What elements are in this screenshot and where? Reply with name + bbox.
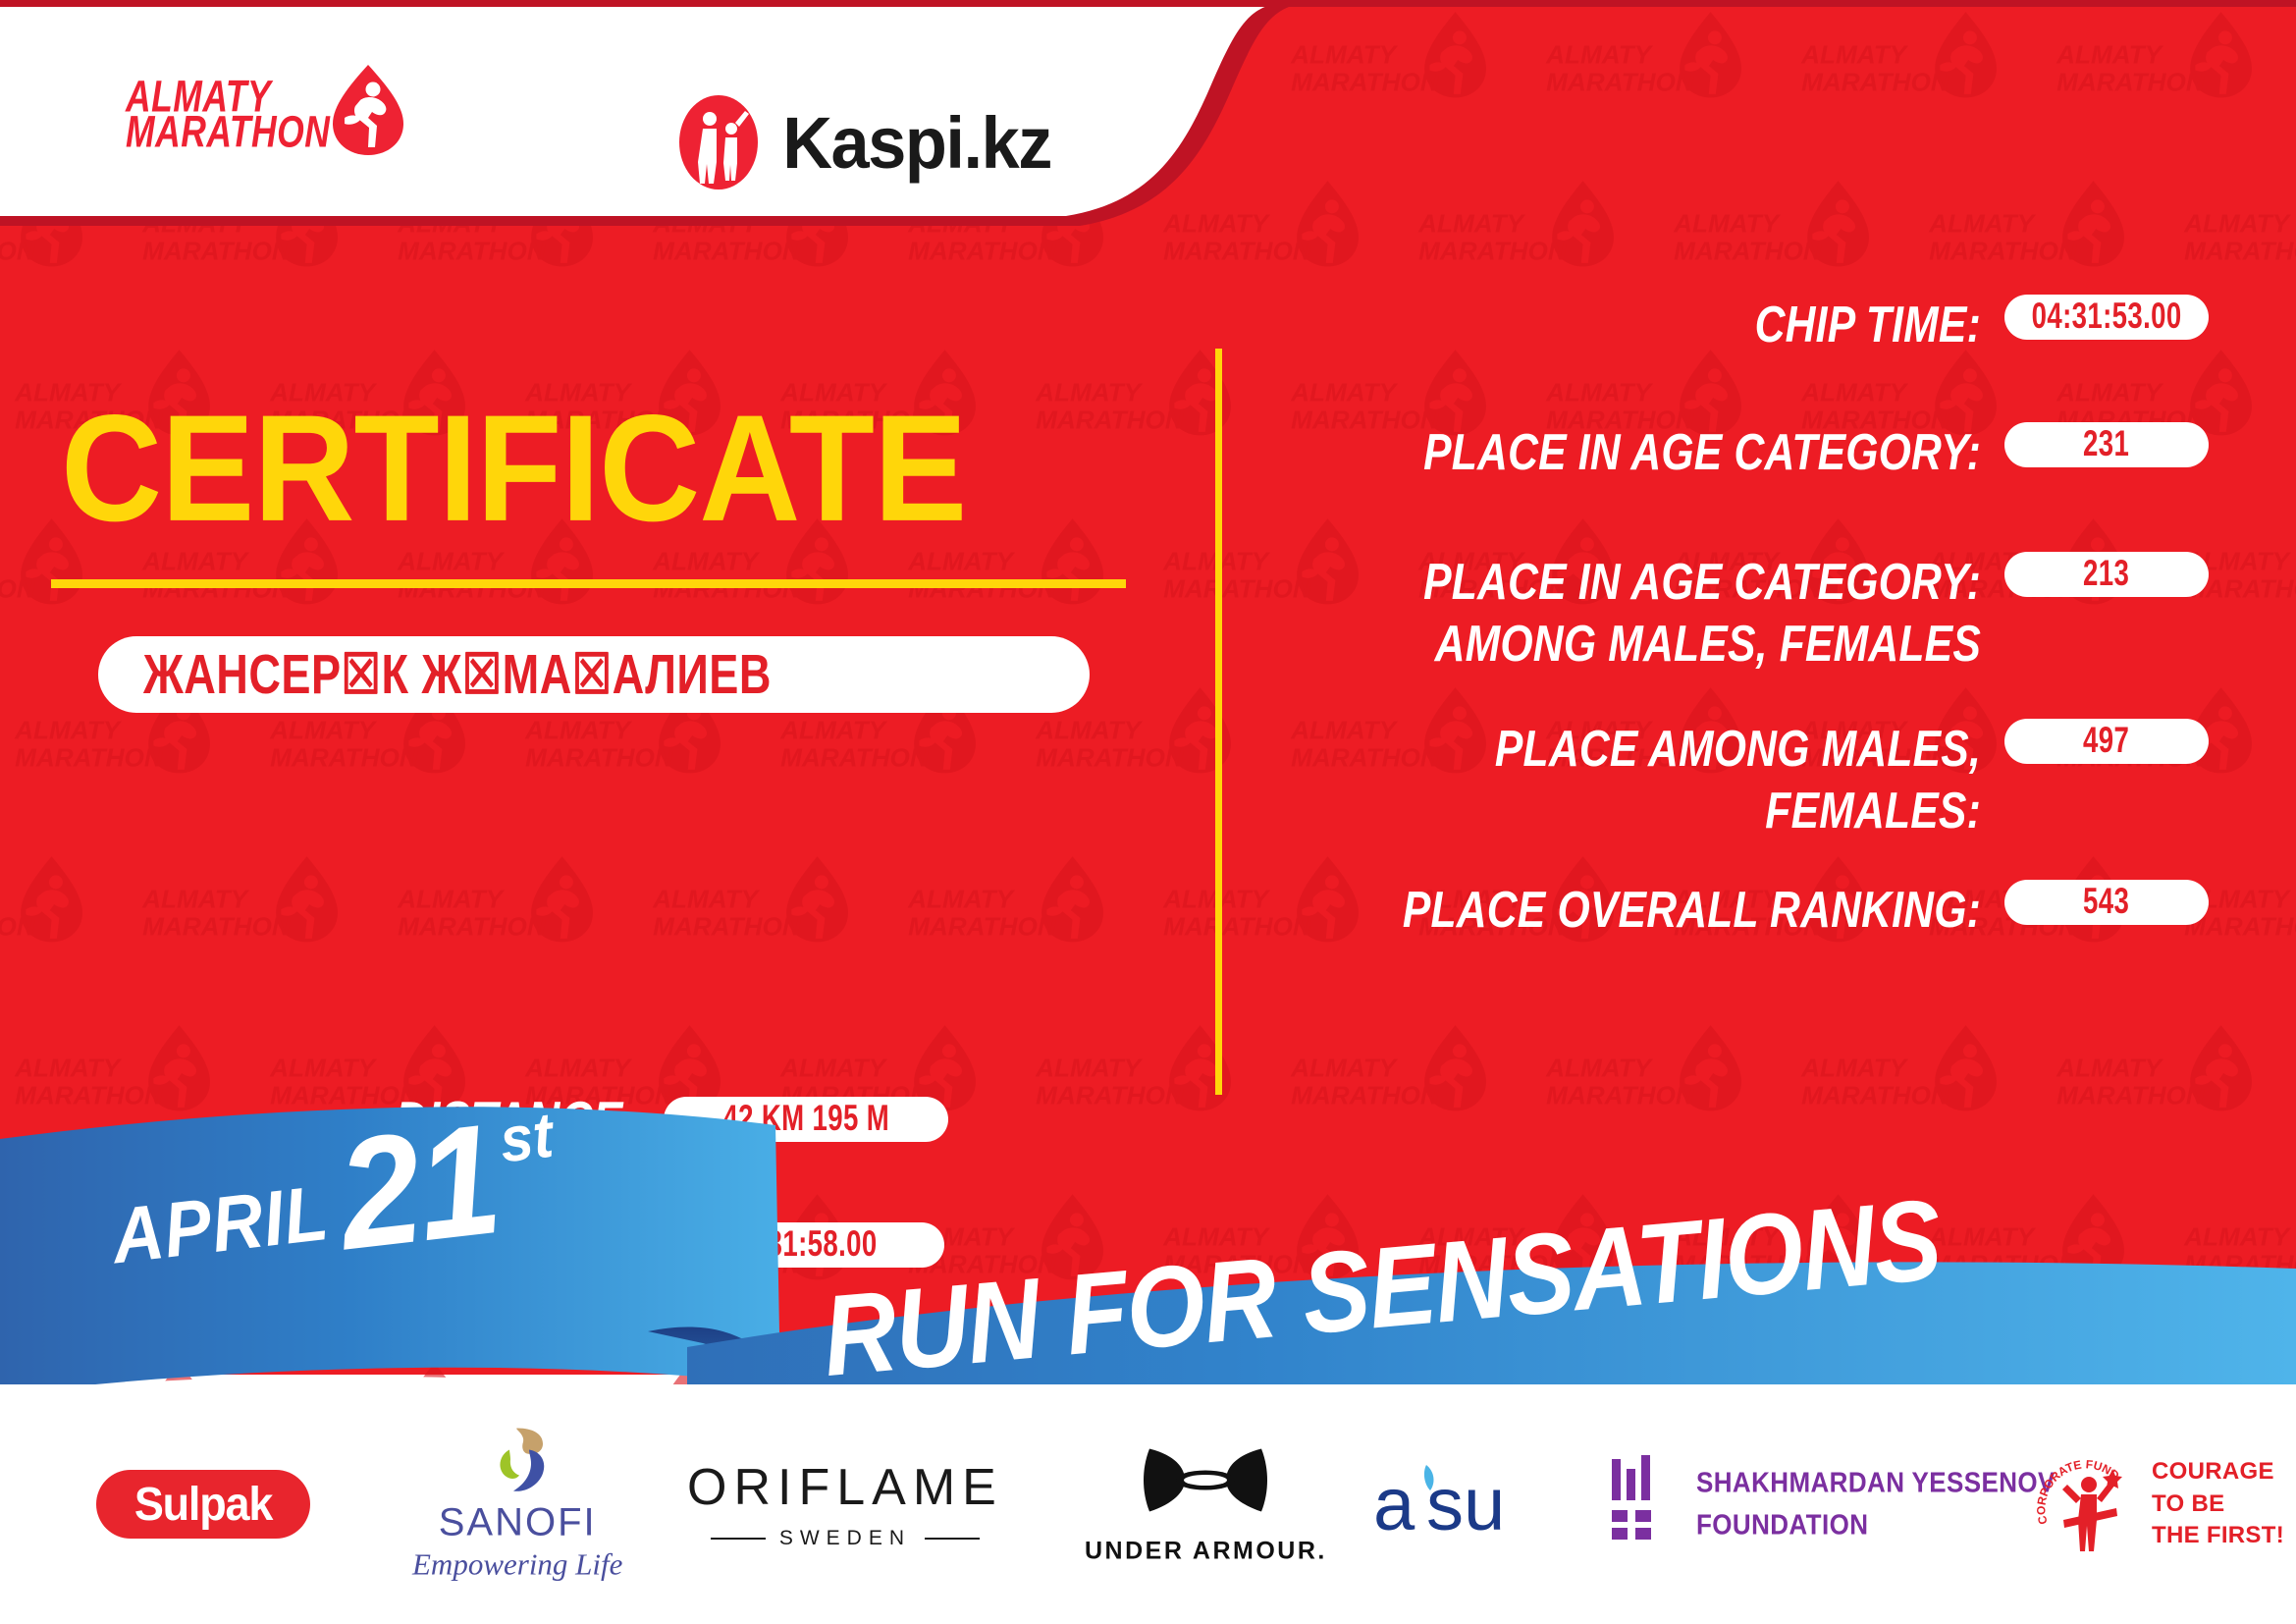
chip-time-value-pill: 04:31:53.00 [2004, 295, 2209, 340]
svg-text:a: a [1373, 1463, 1415, 1546]
svg-text:su: su [1426, 1463, 1505, 1546]
sponsor-sanofi: SANOFI Empowering Life [412, 1427, 622, 1583]
place-age-category-gender-value: 213 [2083, 554, 2129, 594]
under-armour-wordmark: UNDER ARMOUR. [1085, 1538, 1327, 1566]
kaspi-mark-icon [677, 93, 760, 191]
column-divider [1215, 349, 1222, 1095]
courage-fund-wordmark: COURAGE TO BE THE FIRST! [2152, 1456, 2284, 1551]
stat-row-place-age-category: PLACE IN AGE CATEGORY: 231 [1256, 422, 2209, 475]
event-day: 21 [333, 1113, 505, 1263]
sanofi-wordmark: SANOFI [439, 1501, 597, 1545]
place-overall-value: 543 [2083, 882, 2129, 922]
place-age-category-gender-label: PLACE IN AGE CATEGORY: AMONG MALES, FEMA… [1278, 552, 1981, 676]
stat-row-place-age-category-gender: PLACE IN AGE CATEGORY: AMONG MALES, FEMA… [1256, 552, 2209, 657]
participant-name-value: ЖАНСЕР☒К Ж☒МА☒АЛИЕВ [143, 642, 772, 707]
kaspi-wordmark: Kaspi.kz [782, 101, 1051, 185]
runner-drop-icon [331, 63, 405, 157]
page-title: CERTIFICATE [61, 393, 966, 545]
participant-name-field: ЖАНСЕР☒К Ж☒МА☒АЛИЕВ [98, 636, 1090, 713]
sanofi-tagline: Empowering Life [412, 1547, 622, 1583]
sanofi-mark-icon [480, 1427, 555, 1497]
event-day-ordinal: st [496, 1098, 556, 1176]
place-among-gender-label: PLACE AMONG MALES, FEMALES: [1278, 719, 1981, 842]
sulpak-logo: Sulpak [96, 1470, 310, 1539]
under-armour-mark-icon [1140, 1443, 1271, 1528]
kaspi-logo: Kaspi.kz [677, 93, 1058, 191]
stat-row-place-among-gender: PLACE AMONG MALES, FEMALES: 497 [1256, 719, 2209, 824]
place-among-gender-value-pill: 497 [2004, 719, 2209, 764]
place-age-category-value: 231 [2083, 424, 2129, 464]
sponsor-oriflame: ORIFLAME SWEDEN [687, 1458, 1003, 1550]
oriflame-sub-row: SWEDEN [711, 1527, 980, 1550]
sponsor-under-armour: UNDER ARMOUR. [1085, 1443, 1327, 1566]
oriflame-rule-right [925, 1538, 980, 1540]
asu-logo-icon: a su [1369, 1457, 1546, 1551]
sponsor-sulpak: Sulpak [96, 1470, 310, 1539]
top-hairline [0, 0, 2296, 7]
place-age-category-label: PLACE IN AGE CATEGORY: [1278, 422, 1981, 484]
finish-time-value: 04:31:58.00 [727, 1224, 878, 1265]
marathon-text: MARATHON [126, 111, 330, 153]
almaty-marathon-logo: ALMATY MARATHON [126, 51, 440, 179]
yessenov-wordmark: SHAKHMARDAN YESSENOV FOUNDATION [1696, 1463, 2056, 1545]
oriflame-wordmark: ORIFLAME [687, 1458, 1003, 1517]
place-age-category-value-pill: 231 [2004, 422, 2209, 467]
sulpak-wordmark: Sulpak [134, 1477, 272, 1532]
courage-fund-icon: CORPORATE FUND [2032, 1451, 2140, 1557]
place-overall-label: PLACE OVERALL RANKING: [1278, 880, 1981, 942]
finish-time-value-pill: 04:31:58.00 [660, 1222, 944, 1268]
place-among-gender-value: 497 [2083, 721, 2129, 761]
chip-time-label: CHIP TIME: [1278, 295, 1981, 356]
sponsor-courage-fund: CORPORATE FUND COURAGE TO BE THE FIRST! [2032, 1451, 2284, 1557]
sponsor-yessenov-foundation: SHAKHMARDAN YESSENOV FOUNDATION [1610, 1455, 2056, 1553]
distance-value-pill: 42 KM 195 M [664, 1097, 948, 1142]
stat-row-chip-time: CHIP TIME: 04:31:53.00 [1256, 295, 2209, 348]
oriflame-country: SWEDEN [779, 1527, 911, 1550]
stat-row-place-overall: PLACE OVERALL RANKING: 543 [1256, 880, 2209, 933]
oriflame-rule-left [711, 1538, 766, 1540]
yessenov-bars-icon [1610, 1455, 1671, 1553]
title-underline [51, 579, 1126, 588]
sponsor-asu: a su [1369, 1457, 1546, 1551]
place-overall-value-pill: 543 [2004, 880, 2209, 925]
sponsor-bar: Sulpak SANOFI Empowering Life ORIFLAME S… [0, 1384, 2296, 1624]
certificate-page: ALMATYMARATHONALMATYMARATHONALMATYMARATH… [0, 0, 2296, 1624]
distance-value: 42 KM 195 M [722, 1099, 889, 1139]
place-age-category-gender-value-pill: 213 [2004, 552, 2209, 597]
chip-time-value: 04:31:53.00 [2032, 297, 2182, 337]
